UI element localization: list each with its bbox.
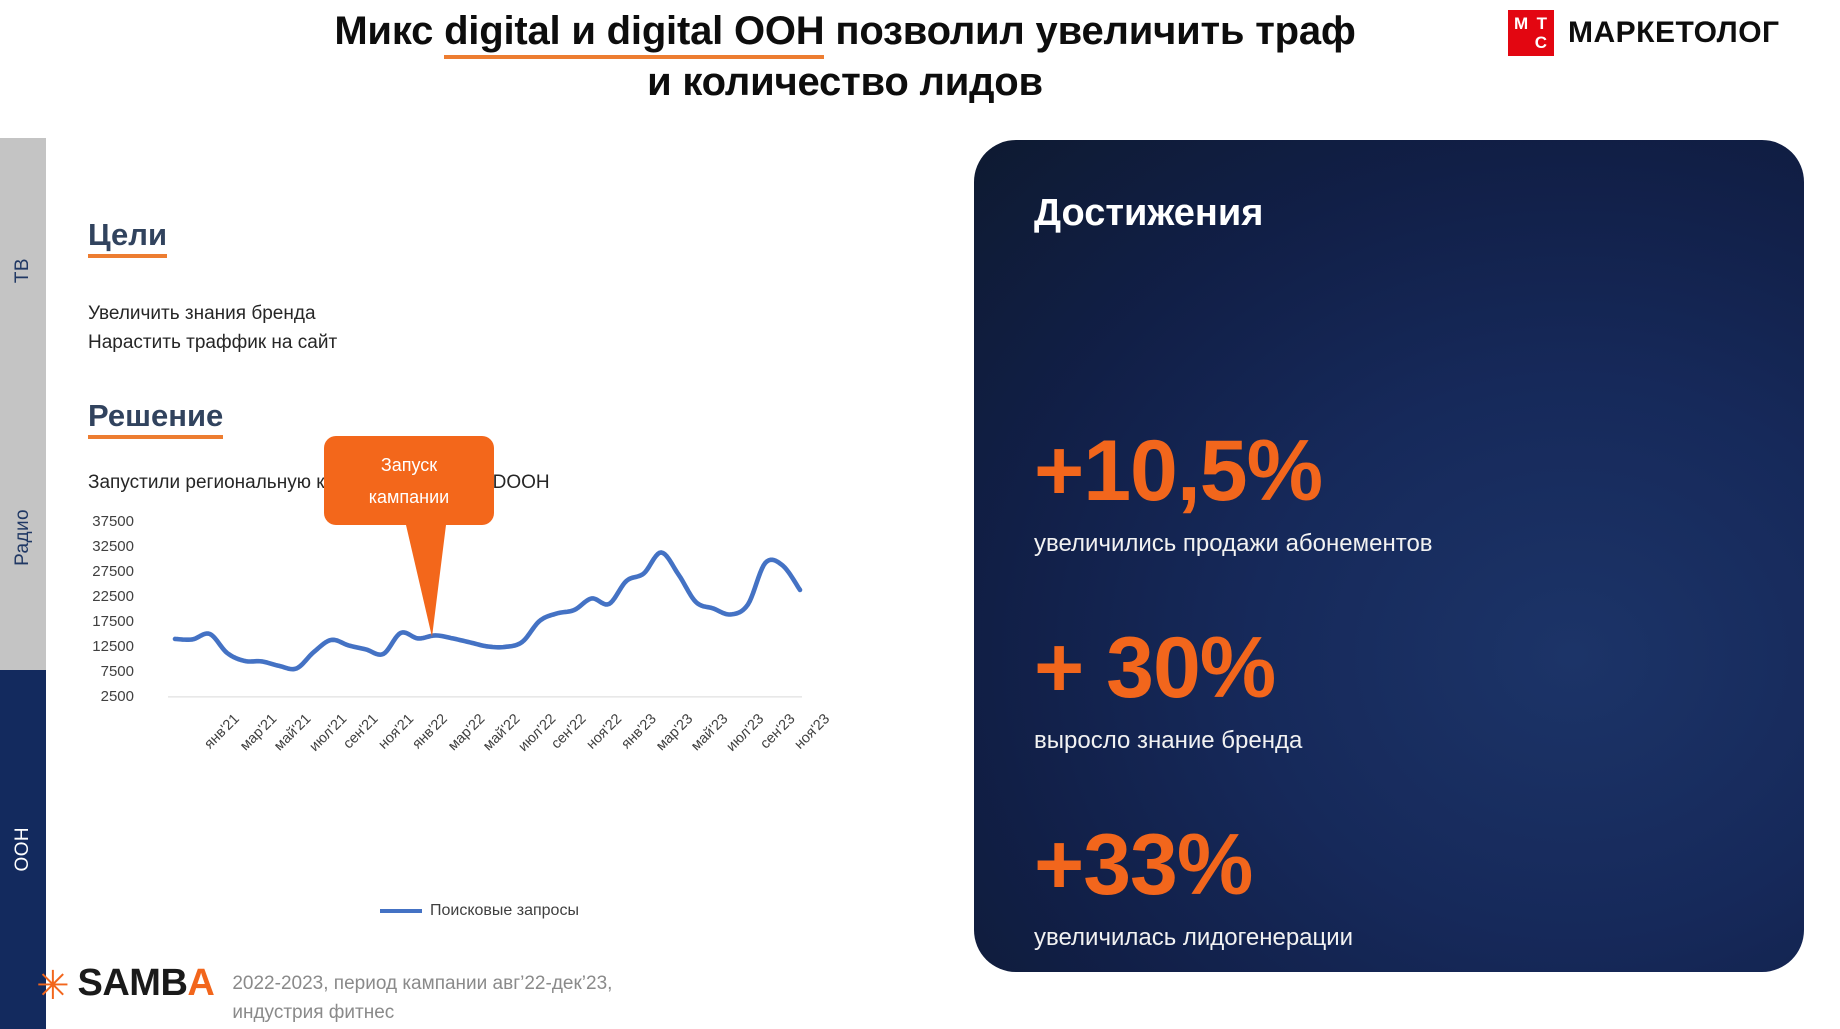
legend-swatch-search-queries — [380, 909, 422, 913]
slide-title-part-post: позволил увеличить траф — [824, 9, 1355, 53]
achievements-panel: Достижения +10,5% увеличились продажи аб… — [974, 140, 1804, 972]
achievement-value: +10,5% — [1034, 428, 1754, 514]
search-queries-chart: 37500325002750022500175001250075002500 я… — [60, 500, 820, 940]
mts-letter-s: С — [1535, 34, 1547, 51]
callout-line-1: Запуск — [340, 450, 478, 482]
mts-letter-t: Т — [1537, 15, 1547, 32]
legend-label-search-queries: Поисковые запросы — [430, 902, 579, 920]
chart-y-tick: 7500 — [72, 663, 134, 680]
achievements-heading: Достижения — [1034, 192, 1263, 235]
goals-list: Увеличить знания бренда Нарастить траффи… — [88, 300, 878, 357]
chart-y-tick: 12500 — [72, 638, 134, 655]
channel-segment-radio[interactable]: Радио — [0, 404, 46, 670]
callout-line-2: кампании — [340, 482, 478, 514]
chart-y-tick: 2500 — [72, 688, 134, 705]
achievement-item: + 30% выросло знание бренда — [1034, 625, 1754, 755]
goals-heading: Цели — [88, 218, 167, 258]
mts-logo-icon: М Т С — [1508, 10, 1554, 56]
achievement-value: + 30% — [1034, 625, 1754, 711]
achievement-item: +33% увеличилась лидогенерации — [1034, 822, 1754, 952]
samba-wordmark-dark: SAMB — [78, 962, 188, 1004]
chart-y-tick: 22500 — [72, 588, 134, 605]
slide-title-part-pre: Микс — [334, 9, 444, 53]
achievement-label: увеличилась лидогенерации — [1034, 924, 1754, 952]
slide-title: Микс digital и digital ООН позволил увел… — [200, 6, 1490, 108]
asterisk-icon: ✳ — [36, 968, 70, 1004]
slide-root: ТВ Радио ООН Микс digital и digital ООН … — [0, 0, 1840, 1029]
footer-note-line-1: 2022-2023, период кампании авг’22-дек’23… — [232, 970, 612, 999]
channel-bar: ТВ Радио ООН — [0, 138, 46, 1029]
chart-y-tick: 17500 — [72, 613, 134, 630]
achievement-label: выросло знание бренда — [1034, 727, 1754, 755]
footer-note: 2022-2023, период кампании авг’22-дек’23… — [232, 962, 612, 1027]
solution-heading: Решение — [88, 399, 223, 439]
footer-note-line-2: индустрия фитнес — [232, 999, 612, 1028]
samba-wordmark-accent: A — [187, 962, 214, 1004]
slide-title-part-highlight: digital и digital ООН — [444, 9, 824, 59]
slide-title-line-2: и количество лидов — [200, 57, 1490, 108]
callout-pointer — [324, 525, 504, 645]
brand-wordmark: МАРКЕТОЛОГ — [1568, 16, 1780, 50]
campaign-launch-callout: Запуск кампании — [324, 436, 494, 525]
chart-y-tick: 37500 — [72, 513, 134, 530]
footer: ✳ SAMBA 2022-2023, период кампании авг’2… — [36, 962, 612, 1027]
channel-label-radio: Радио — [12, 509, 34, 566]
achievement-item: +10,5% увеличились продажи абонементов — [1034, 428, 1754, 558]
mts-letter-m: М — [1514, 15, 1528, 32]
samba-wordmark: SAMBA — [78, 962, 215, 1005]
channel-label-tv: ТВ — [12, 258, 34, 283]
chart-y-tick: 27500 — [72, 563, 134, 580]
goal-item-1: Увеличить знания бренда — [88, 300, 878, 329]
achievement-value: +33% — [1034, 822, 1754, 908]
slide-title-line-1: Микс digital и digital ООН позволил увел… — [200, 6, 1490, 57]
channel-segment-tv[interactable]: ТВ — [0, 138, 46, 404]
achievement-label: увеличились продажи абонементов — [1034, 530, 1754, 558]
chart-legend: Поисковые запросы — [380, 902, 579, 920]
brand-logo: М Т С МАРКЕТОЛОГ — [1508, 10, 1780, 56]
goal-item-2: Нарастить траффик на сайт — [88, 329, 878, 358]
chart-y-tick: 32500 — [72, 538, 134, 555]
samba-logo: ✳ SAMBA — [36, 962, 214, 1005]
channel-label-ooh: ООН — [12, 827, 34, 871]
